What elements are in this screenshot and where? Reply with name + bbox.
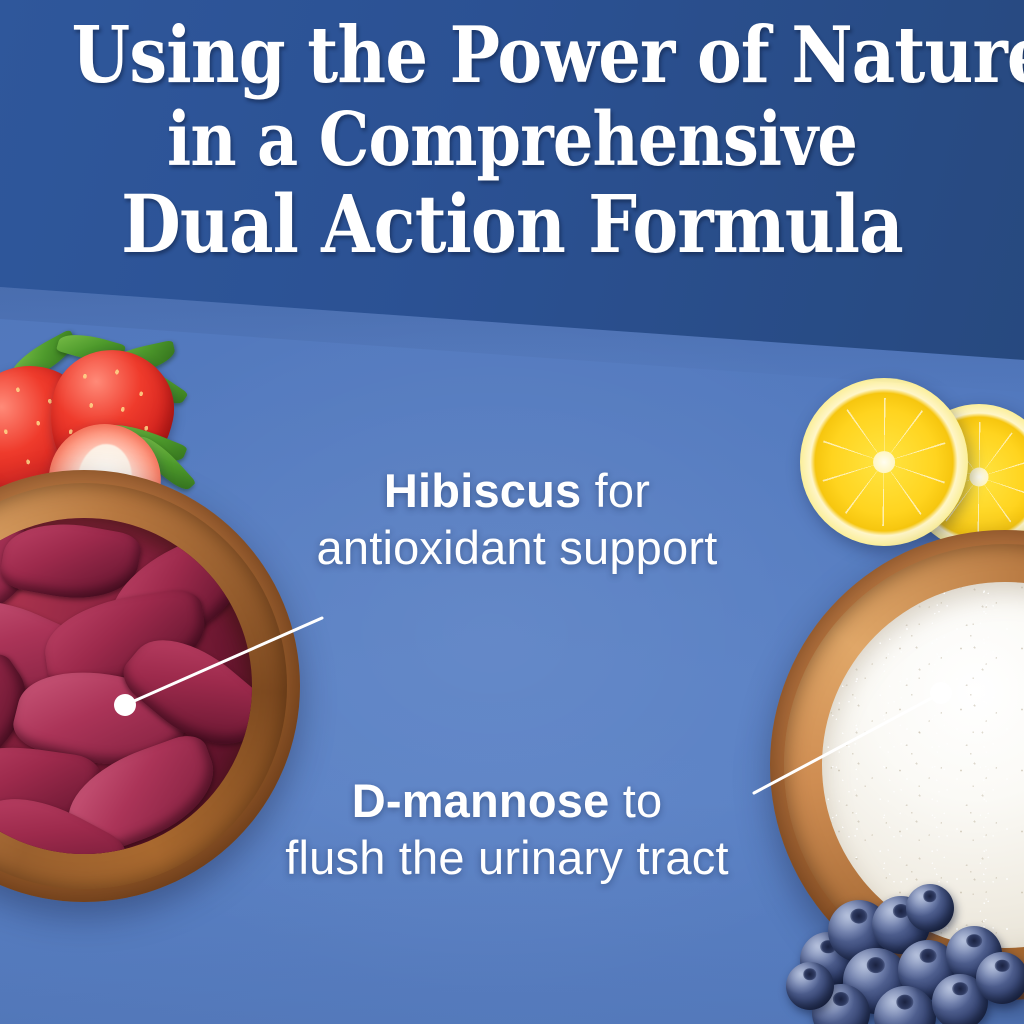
callout-mannose: D-mannose to flush the urinary tract	[177, 772, 837, 886]
callout-hibiscus-emphasis: Hibiscus	[384, 464, 582, 517]
callout-mannose-line-1: D-mannose to	[177, 772, 837, 829]
callout-hibiscus-line-2: antioxidant support	[197, 519, 837, 576]
infographic-canvas: Using the Power of Nature in a Comprehen…	[0, 0, 1024, 1024]
callout-hibiscus: Hibiscus for antioxidant support	[197, 462, 837, 576]
title-line-1: Using the Power of Nature	[72, 14, 953, 98]
callout-mannose-emphasis: D-mannose	[352, 774, 610, 827]
title-line-2: in a Comprehensive	[72, 98, 953, 182]
callout-hibiscus-line-1: Hibiscus for	[197, 462, 837, 519]
blueberry	[874, 986, 936, 1024]
page-title: Using the Power of Nature in a Comprehen…	[72, 14, 953, 266]
title-line-3: Dual Action Formula	[72, 182, 953, 266]
lemon-slice	[906, 404, 1024, 550]
blueberry	[812, 984, 870, 1024]
callout-mannose-line-2: flush the urinary tract	[177, 829, 837, 886]
header-banner: Using the Power of Nature in a Comprehen…	[0, 0, 1024, 372]
d-mannose-bowl	[770, 530, 1024, 1000]
bowl-contents-powder	[822, 582, 1024, 949]
callout-mannose-tail: to	[609, 774, 662, 827]
blueberry	[786, 962, 834, 1010]
callout-hibiscus-tail: for	[581, 464, 650, 517]
